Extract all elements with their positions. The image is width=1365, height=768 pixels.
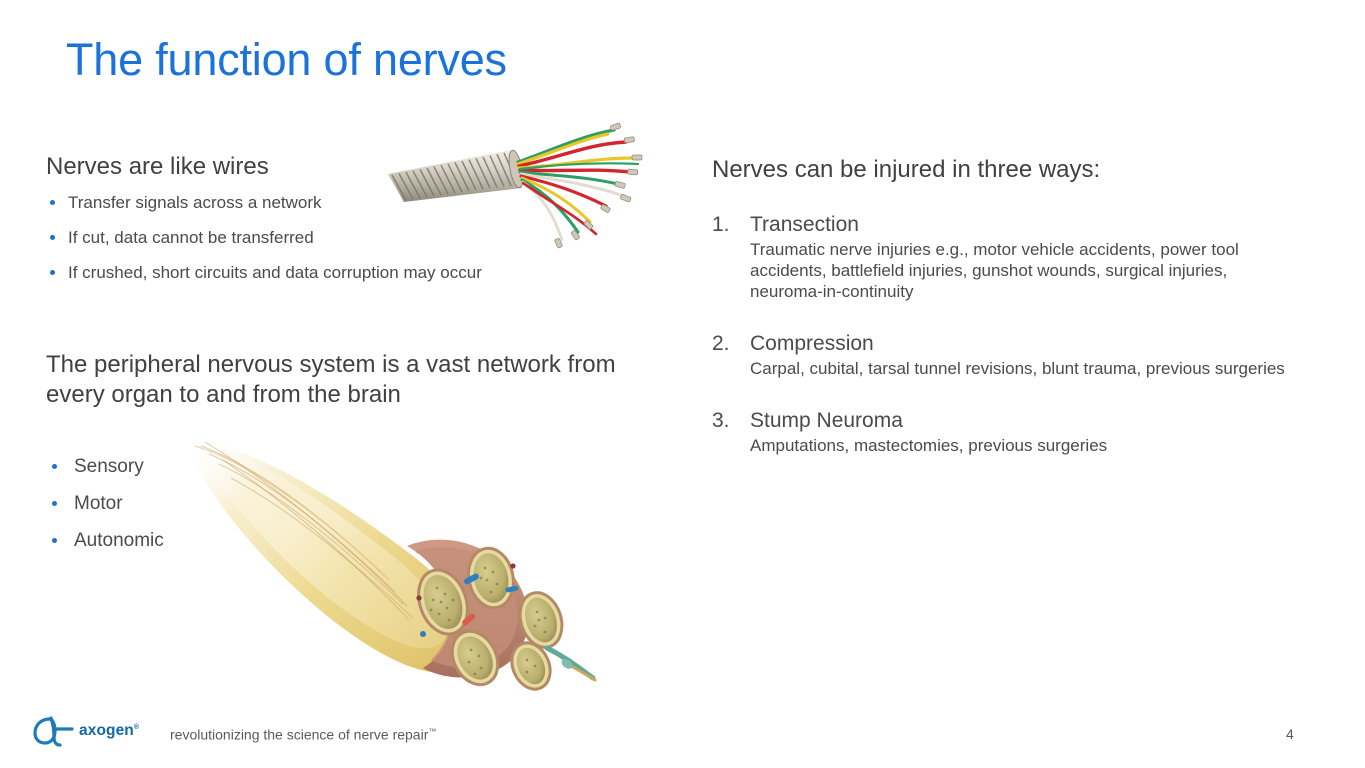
bullet-dot-icon xyxy=(50,200,55,205)
list-item-description: Traumatic nerve injuries e.g., motor veh… xyxy=(750,239,1292,302)
page-title: The function of nerves xyxy=(66,32,507,88)
list-item-title: Stump Neuroma xyxy=(750,407,1292,434)
right-heading-injury-ways: Nerves can be injured in three ways: xyxy=(712,155,1292,185)
list-item: Sensory xyxy=(46,455,346,478)
numbered-list-injury-types: 1. Transection Traumatic nerve injuries … xyxy=(712,211,1292,456)
axogen-mark-icon xyxy=(30,713,76,749)
axogen-logo: axogen® xyxy=(30,712,139,750)
bullet-dot-icon xyxy=(52,538,57,543)
list-item-label: If crushed, short circuits and data corr… xyxy=(68,263,482,282)
list-item-marker: 2. xyxy=(712,330,730,357)
list-item: Autonomic xyxy=(46,529,346,552)
list-item-title: Transection xyxy=(750,211,1292,238)
footer-tagline: revolutionizing the science of nerve rep… xyxy=(170,723,436,744)
list-item: Motor xyxy=(46,492,346,515)
list-item-title: Compression xyxy=(750,330,1292,357)
bullet-list-nerve-types: Sensory Motor Autonomic xyxy=(46,455,346,566)
list-item: If crushed, short circuits and data corr… xyxy=(46,262,666,283)
list-item-marker: 1. xyxy=(712,211,730,238)
axogen-wordmark: axogen® xyxy=(79,722,139,740)
list-item-label: Autonomic xyxy=(74,530,164,551)
bullet-dot-icon xyxy=(50,270,55,275)
cable-wires-image xyxy=(382,118,650,252)
page-number: 4 xyxy=(1286,726,1294,742)
list-item-label: Motor xyxy=(74,493,123,514)
cable-wires-illustration xyxy=(382,118,650,252)
bullet-dot-icon xyxy=(50,235,55,240)
list-item-label: Transfer signals across a network xyxy=(68,193,322,212)
list-item-marker: 3. xyxy=(712,407,730,434)
list-item: 1. Transection Traumatic nerve injuries … xyxy=(712,211,1292,302)
list-item: 3. Stump Neuroma Amputations, mastectomi… xyxy=(712,407,1292,456)
list-item-description: Carpal, cubital, tarsal tunnel revisions… xyxy=(750,358,1292,379)
registered-mark: ® xyxy=(134,724,139,731)
bullet-dot-icon xyxy=(52,501,57,506)
trademark-mark: ™ xyxy=(428,727,436,736)
bullet-dot-icon xyxy=(52,464,57,469)
list-item-label: Sensory xyxy=(74,456,144,477)
list-item: 2. Compression Carpal, cubital, tarsal t… xyxy=(712,330,1292,379)
list-item-label: If cut, data cannot be transferred xyxy=(68,228,314,247)
slide-canvas: The function of nerves Nerves are like w… xyxy=(0,0,1365,768)
right-content-column: Nerves can be injured in three ways: 1. … xyxy=(712,155,1292,456)
left-heading-peripheral-nervous-system: The peripheral nervous system is a vast … xyxy=(46,350,626,410)
list-item-description: Amputations, mastectomies, previous surg… xyxy=(750,435,1292,456)
